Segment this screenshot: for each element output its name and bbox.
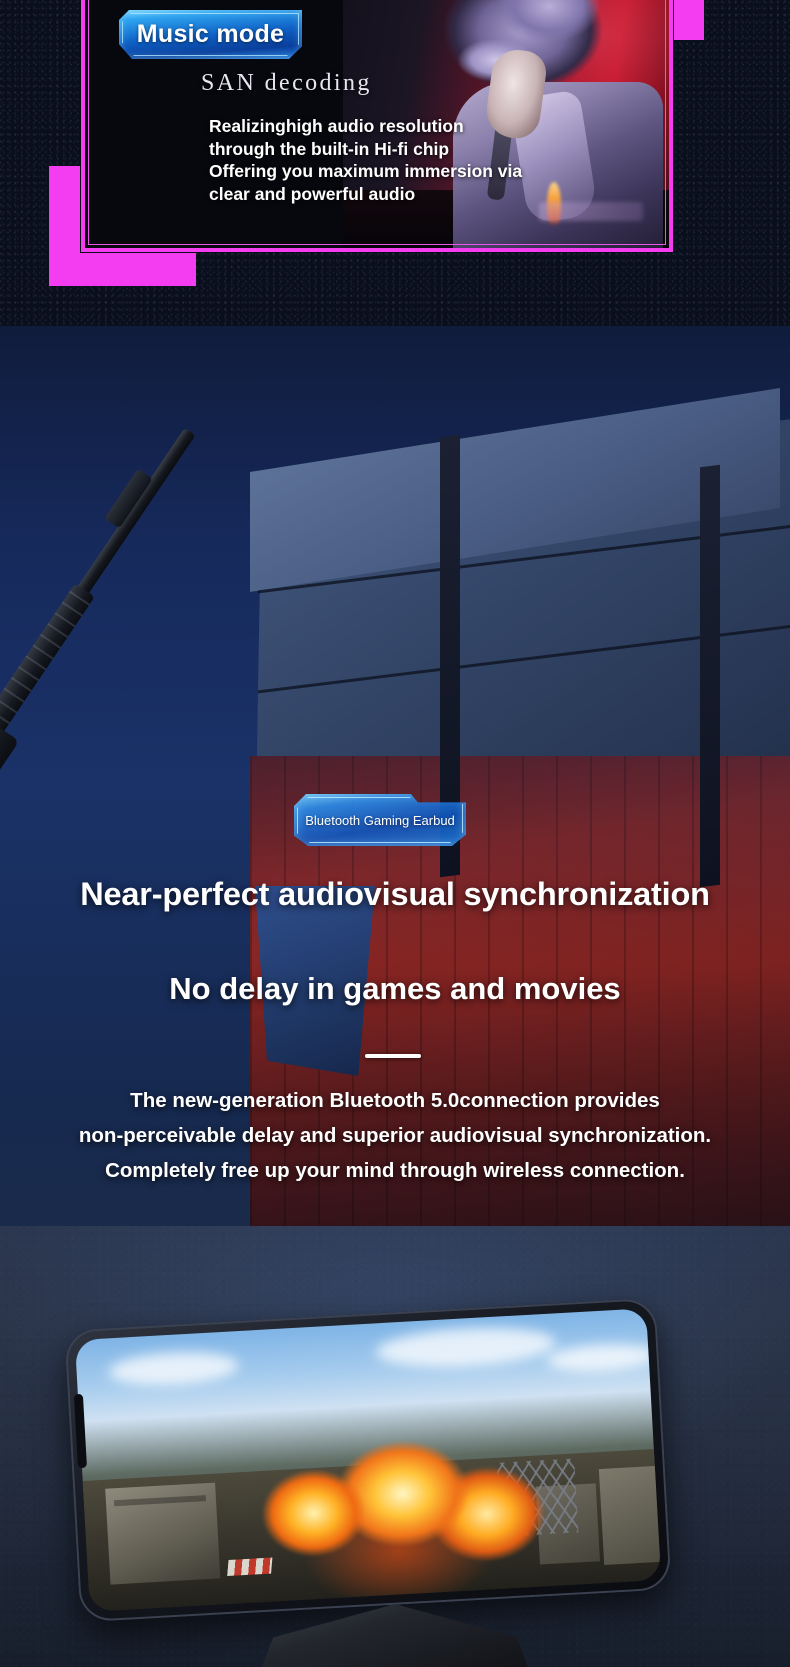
pink-frame-bottom-bar — [49, 252, 196, 286]
gaming-body-copy: The new-generation Bluetooth 5.0connecti… — [0, 1083, 790, 1188]
music-mode-badge-label: Music mode — [137, 20, 284, 49]
music-body-line-4: clear and powerful audio — [209, 183, 522, 206]
san-decoding-subtitle: SAN decoding — [201, 70, 372, 97]
gaming-body-line-2: non-perceivable delay and superior audio… — [0, 1118, 790, 1153]
rifle-handguard — [0, 583, 95, 746]
cloud-3 — [546, 1342, 657, 1374]
gaming-body-line-1: The new-generation Bluetooth 5.0connecti… — [0, 1083, 790, 1118]
gaming-sync-panel: Bluetooth Gaming Earbud Near-perfect aud… — [0, 326, 790, 1667]
music-mode-body-copy: Realizinghigh audio resolution through t… — [209, 115, 522, 205]
phone-screen-gameplay — [75, 1308, 661, 1612]
cloud-1 — [108, 1349, 240, 1388]
smartphone — [64, 1298, 671, 1623]
music-mode-photo-card: Music mode SAN decoding Realizinghigh au… — [81, 0, 673, 252]
pink-frame-top-right-bar — [672, 0, 704, 40]
crate-strap-2 — [700, 465, 720, 887]
music-body-line-1: Realizinghigh audio resolution — [209, 115, 522, 138]
gaming-headline-primary: Near-perfect audiovisual synchronization — [0, 876, 790, 913]
music-mode-panel: Music mode SAN decoding Realizinghigh au… — [0, 0, 790, 326]
game-building-1 — [105, 1483, 220, 1585]
case-lid — [250, 1604, 540, 1667]
bluetooth-gaming-earbud-badge-label: Bluetooth Gaming Earbud — [305, 813, 455, 828]
music-body-line-3: Offering you maximum immersion via — [209, 160, 522, 183]
gaming-body-line-3: Completely free up your mind through wir… — [0, 1153, 790, 1188]
music-body-line-2: through the built-in Hi-fi chip — [209, 138, 522, 161]
rifle-receiver — [0, 712, 19, 865]
stage-logo-blur — [539, 202, 643, 221]
cloud-2 — [375, 1323, 557, 1371]
music-mode-badge: Music mode — [119, 10, 302, 59]
earbud-charging-case: 100 — [198, 1604, 590, 1667]
gaming-headline-secondary: No delay in games and movies — [0, 971, 790, 1007]
game-explosion — [232, 1418, 561, 1612]
game-building-3 — [599, 1466, 661, 1565]
divider-rule — [365, 1054, 421, 1058]
